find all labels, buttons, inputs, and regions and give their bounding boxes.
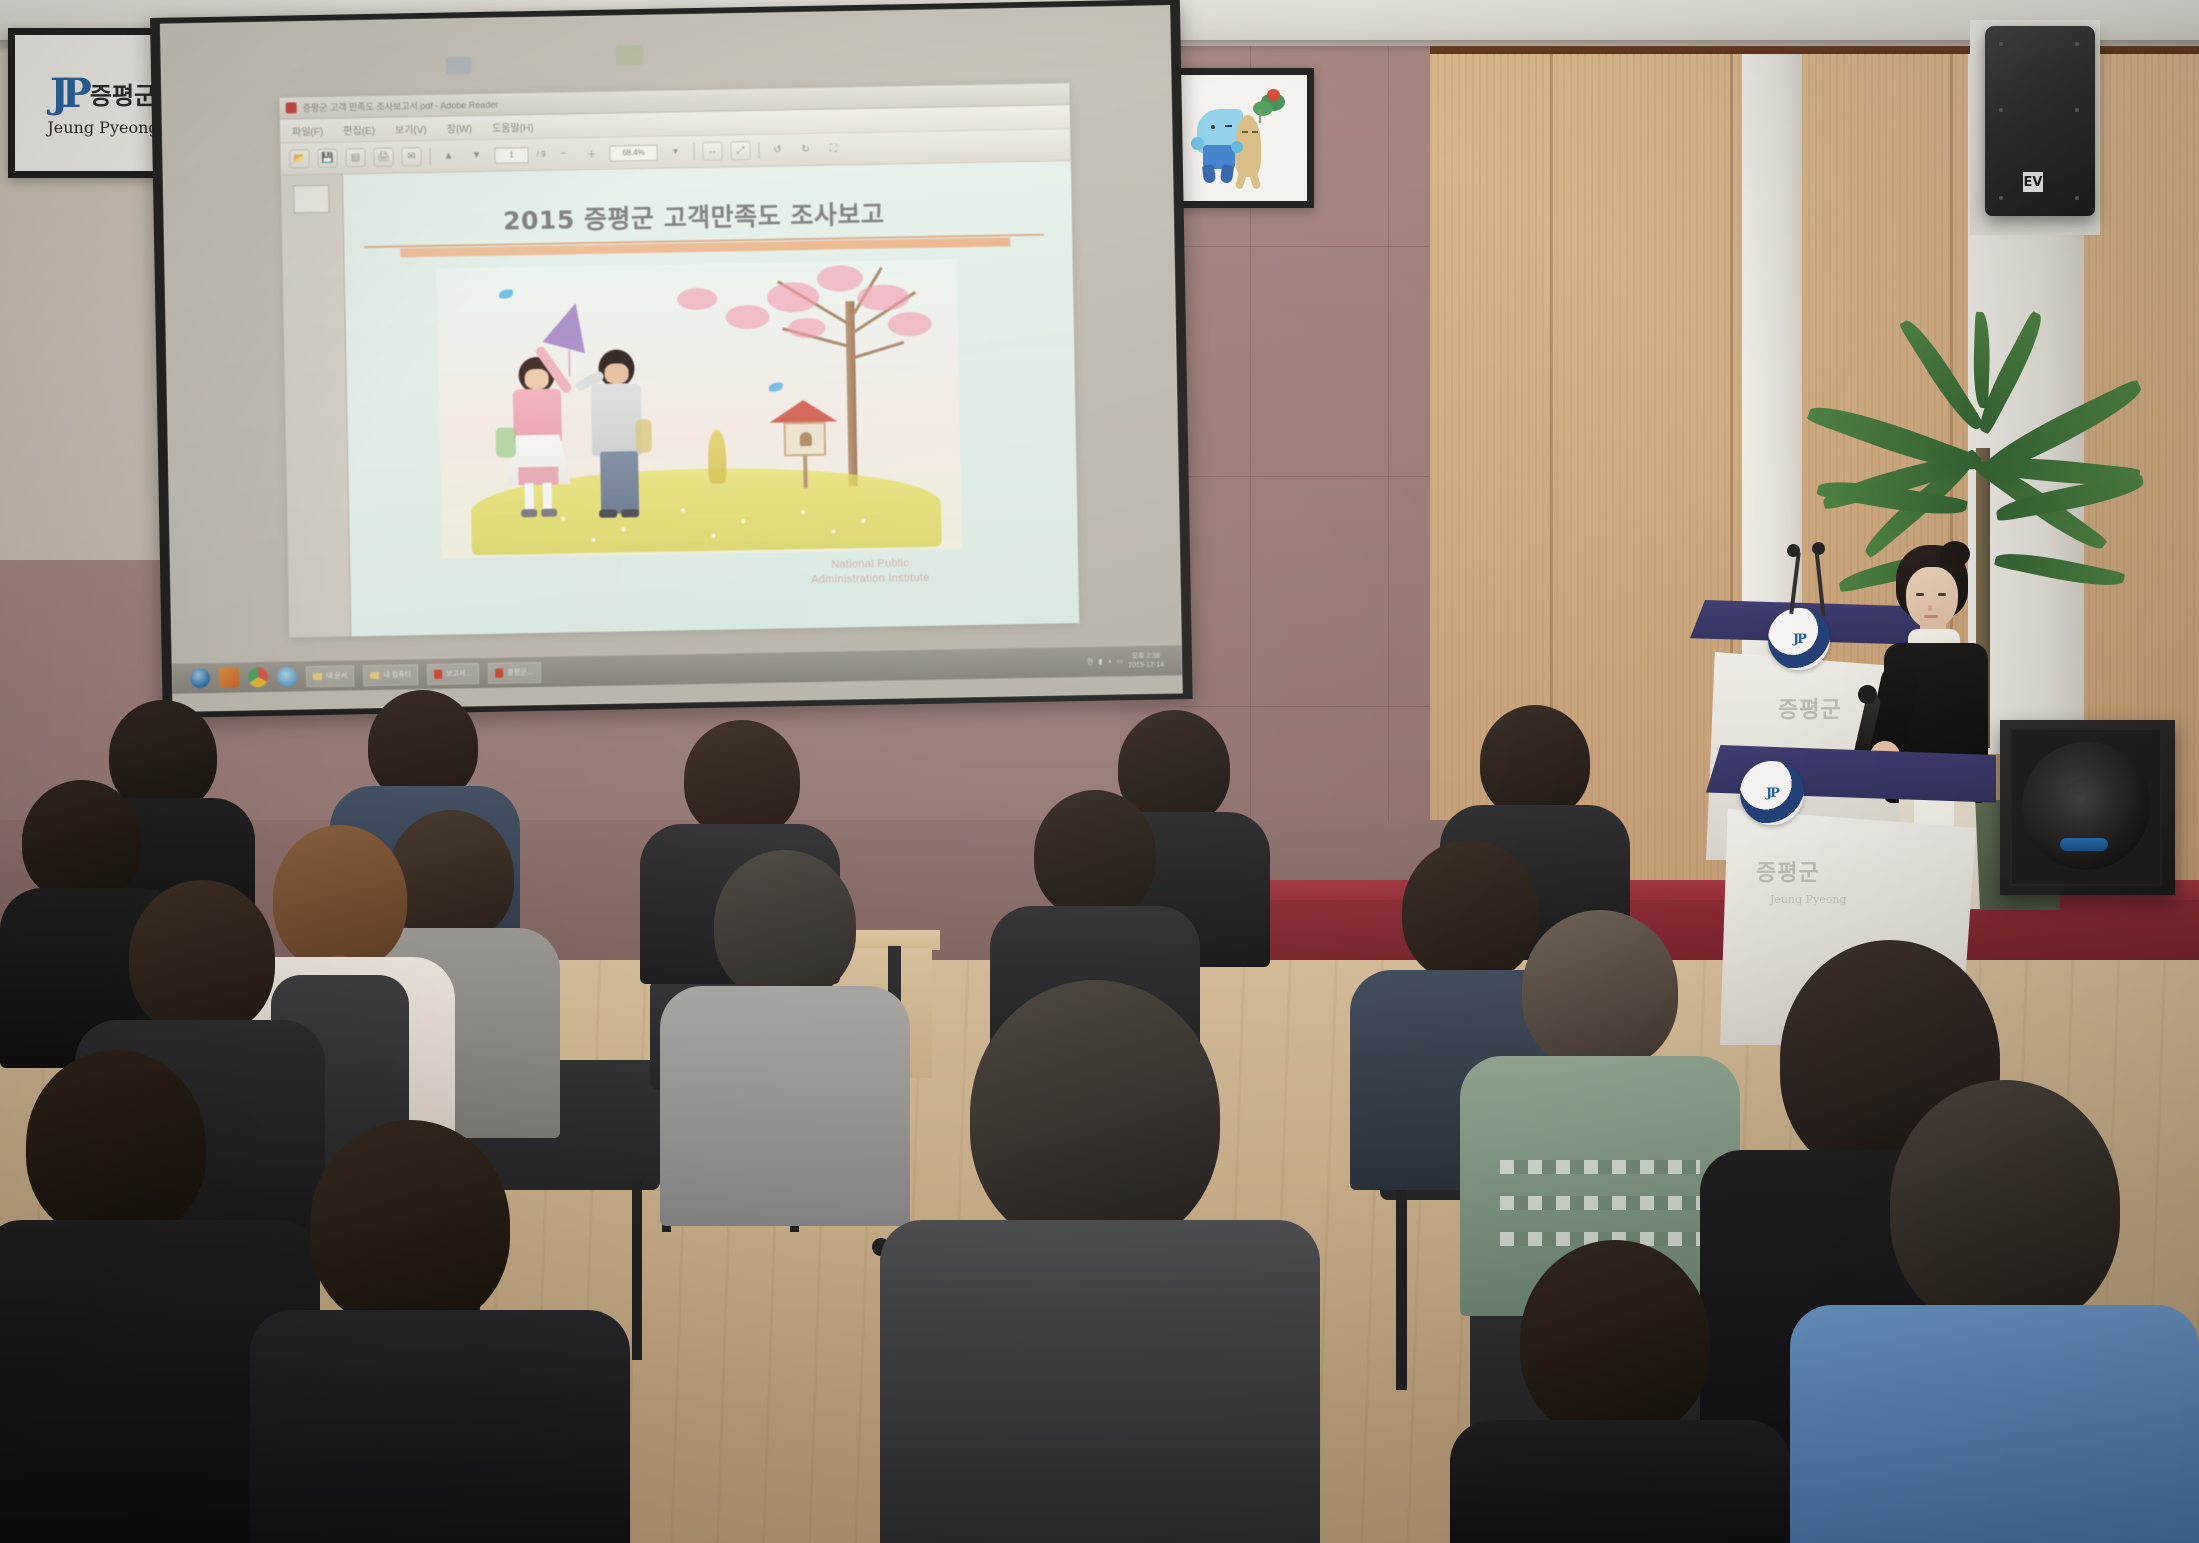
- input-method-icon[interactable]: 한: [1087, 657, 1094, 667]
- child-girl-bag: [496, 427, 517, 457]
- subwoofer-badge: [2060, 838, 2108, 851]
- menu-window[interactable]: 창(W): [447, 120, 473, 135]
- child-boy-bag: [635, 419, 652, 453]
- taskbar-window-button[interactable]: 내 문서: [306, 665, 355, 687]
- toolbar-separator: [758, 142, 759, 159]
- clock-date: 2015-12-14: [1128, 661, 1164, 671]
- print-icon[interactable]: 🖨: [373, 148, 393, 167]
- toolbar-separator: [429, 148, 430, 165]
- desktop-icon[interactable]: [616, 45, 644, 66]
- projected-desktop: 증평군 고객 만족도 조사보고서.pdf - Adobe Reader 파일(F…: [160, 5, 1182, 711]
- slide-illustration: [437, 259, 962, 558]
- mic-capsule-right: [1812, 542, 1825, 555]
- wall-speaker: EV: [1985, 26, 2095, 216]
- page-thumbnail[interactable]: [293, 185, 330, 214]
- chrome-icon[interactable]: [248, 667, 268, 687]
- previous-page-icon[interactable]: ▲: [438, 146, 458, 165]
- microphone-capsule: [1858, 685, 1877, 704]
- start-orb-icon[interactable]: [190, 668, 210, 688]
- audience-member-foreground: [880, 980, 1300, 1543]
- open-icon[interactable]: 📂: [289, 149, 309, 168]
- network-icon[interactable]: ▮: [1098, 658, 1102, 666]
- mascot-monitor-screen: [1175, 75, 1307, 201]
- copy-icon[interactable]: ▤: [345, 148, 365, 167]
- child-girl-shoe: [521, 509, 537, 517]
- zoom-in-icon[interactable]: ＋: [581, 144, 601, 163]
- podium-rear-korean: 증평군: [1778, 692, 1842, 724]
- plaque-english-text: Jeung Pyeong: [47, 118, 158, 137]
- email-icon[interactable]: ✉: [401, 147, 421, 166]
- slide-credit: National Public Administration Institute: [720, 554, 1020, 589]
- presenter-hair-bun: [1940, 541, 1970, 567]
- fit-page-icon[interactable]: ⤢: [730, 141, 750, 160]
- system-tray[interactable]: 한 ▮ ◑ ▭ 오후 2:38 2015-12-14: [1087, 652, 1164, 671]
- volume-icon[interactable]: ◑: [1107, 658, 1111, 665]
- child-girl-sock: [525, 483, 535, 511]
- toolbar-separator: [693, 143, 694, 160]
- slide-title: 2015 증평군 고객만족도 조사보고: [383, 192, 1004, 239]
- page-thumbnail-sidebar[interactable]: [281, 174, 351, 637]
- menu-view[interactable]: 보기(V): [395, 121, 427, 137]
- taskbar-window-button[interactable]: 내 컴퓨터: [363, 664, 418, 686]
- birdhouse-roof: [769, 399, 837, 422]
- menu-file[interactable]: 파일(F): [292, 123, 323, 139]
- ev-brand-logo: EV: [2023, 172, 2043, 192]
- next-page-icon[interactable]: ▼: [466, 146, 486, 165]
- taskbar-window-button-active[interactable]: 증평군…: [488, 661, 541, 683]
- child-boy-jeans: [600, 451, 639, 514]
- menu-help[interactable]: 도움말(H): [492, 119, 534, 135]
- save-icon[interactable]: 💾: [317, 149, 337, 168]
- rotate-left-icon[interactable]: ↺: [767, 140, 787, 159]
- audience-member-foreground: [1790, 1080, 2199, 1543]
- zoom-out-icon[interactable]: −: [553, 144, 573, 163]
- audience-member-foreground: [1450, 1240, 1780, 1543]
- internet-explorer-icon[interactable]: [277, 666, 297, 686]
- jp-monogram-icon: JP: [50, 70, 85, 117]
- desktop-icon[interactable]: [446, 56, 472, 74]
- mic-capsule-left: [1787, 544, 1800, 557]
- birdhouse-post: [803, 456, 808, 488]
- zoom-level-value[interactable]: 68.4%: [609, 144, 657, 161]
- fullscreen-icon[interactable]: ⛶: [823, 139, 843, 158]
- media-player-icon[interactable]: [219, 667, 239, 687]
- child-boy-shoe: [599, 510, 617, 518]
- child-girl-sock: [543, 483, 553, 511]
- projection-surface: 증평군 고객 만족도 조사보고서.pdf - Adobe Reader 파일(F…: [160, 5, 1182, 711]
- child-boy-shoe: [621, 509, 639, 517]
- podium-front-korean: 증평군: [1756, 855, 1820, 887]
- plaque-korean-text: 증평군: [90, 76, 156, 111]
- chair-leg: [632, 1180, 642, 1360]
- child-girl-shoe: [541, 509, 557, 517]
- fit-width-icon[interactable]: ↔: [702, 142, 722, 161]
- rotate-right-icon[interactable]: ↻: [795, 140, 815, 159]
- battery-icon[interactable]: ▭: [1116, 657, 1123, 665]
- child-boy-face: [604, 363, 628, 383]
- pdf-page: 2015 증평군 고객만족도 조사보고: [343, 161, 1079, 636]
- child-boy-shirt: [591, 383, 642, 456]
- podium-rear-emblem: JP: [1768, 608, 1830, 670]
- adobe-reader-icon: [286, 102, 297, 113]
- page-number-input[interactable]: 1: [494, 147, 528, 164]
- projection-screen: 증평군 고객 만족도 조사보고서.pdf - Adobe Reader 파일(F…: [150, 0, 1193, 718]
- page-total-label: / 9: [536, 150, 545, 159]
- chair-leg: [1396, 1190, 1407, 1390]
- menu-edit[interactable]: 편집(E): [343, 122, 375, 138]
- window-title: 증평군 고객 만족도 조사보고서.pdf - Adobe Reader: [303, 98, 499, 115]
- audience-member: [660, 850, 910, 1210]
- podium-front-emblem: JP: [1740, 761, 1804, 825]
- podium-front-english: Jeung Pyeong: [1770, 893, 1847, 906]
- chevron-down-icon[interactable]: ▾: [665, 142, 685, 161]
- taskbar-window-button[interactable]: 보고서…: [427, 663, 480, 685]
- birdhouse-hole: [800, 432, 812, 446]
- audience-member-foreground: [250, 1120, 610, 1543]
- pdf-reader-window[interactable]: 증평군 고객 만족도 조사보고서.pdf - Adobe Reader 파일(F…: [279, 83, 1079, 637]
- taskbar-clock[interactable]: 오후 2:38 2015-12-14: [1128, 652, 1164, 671]
- child-girl-face: [524, 369, 548, 389]
- subwoofer-dustcap: [2058, 778, 2114, 834]
- presentation-hall-photo: JP 증평군 Jeung Pyeong: [0, 0, 2199, 1543]
- mascot-monitor: [1168, 68, 1314, 208]
